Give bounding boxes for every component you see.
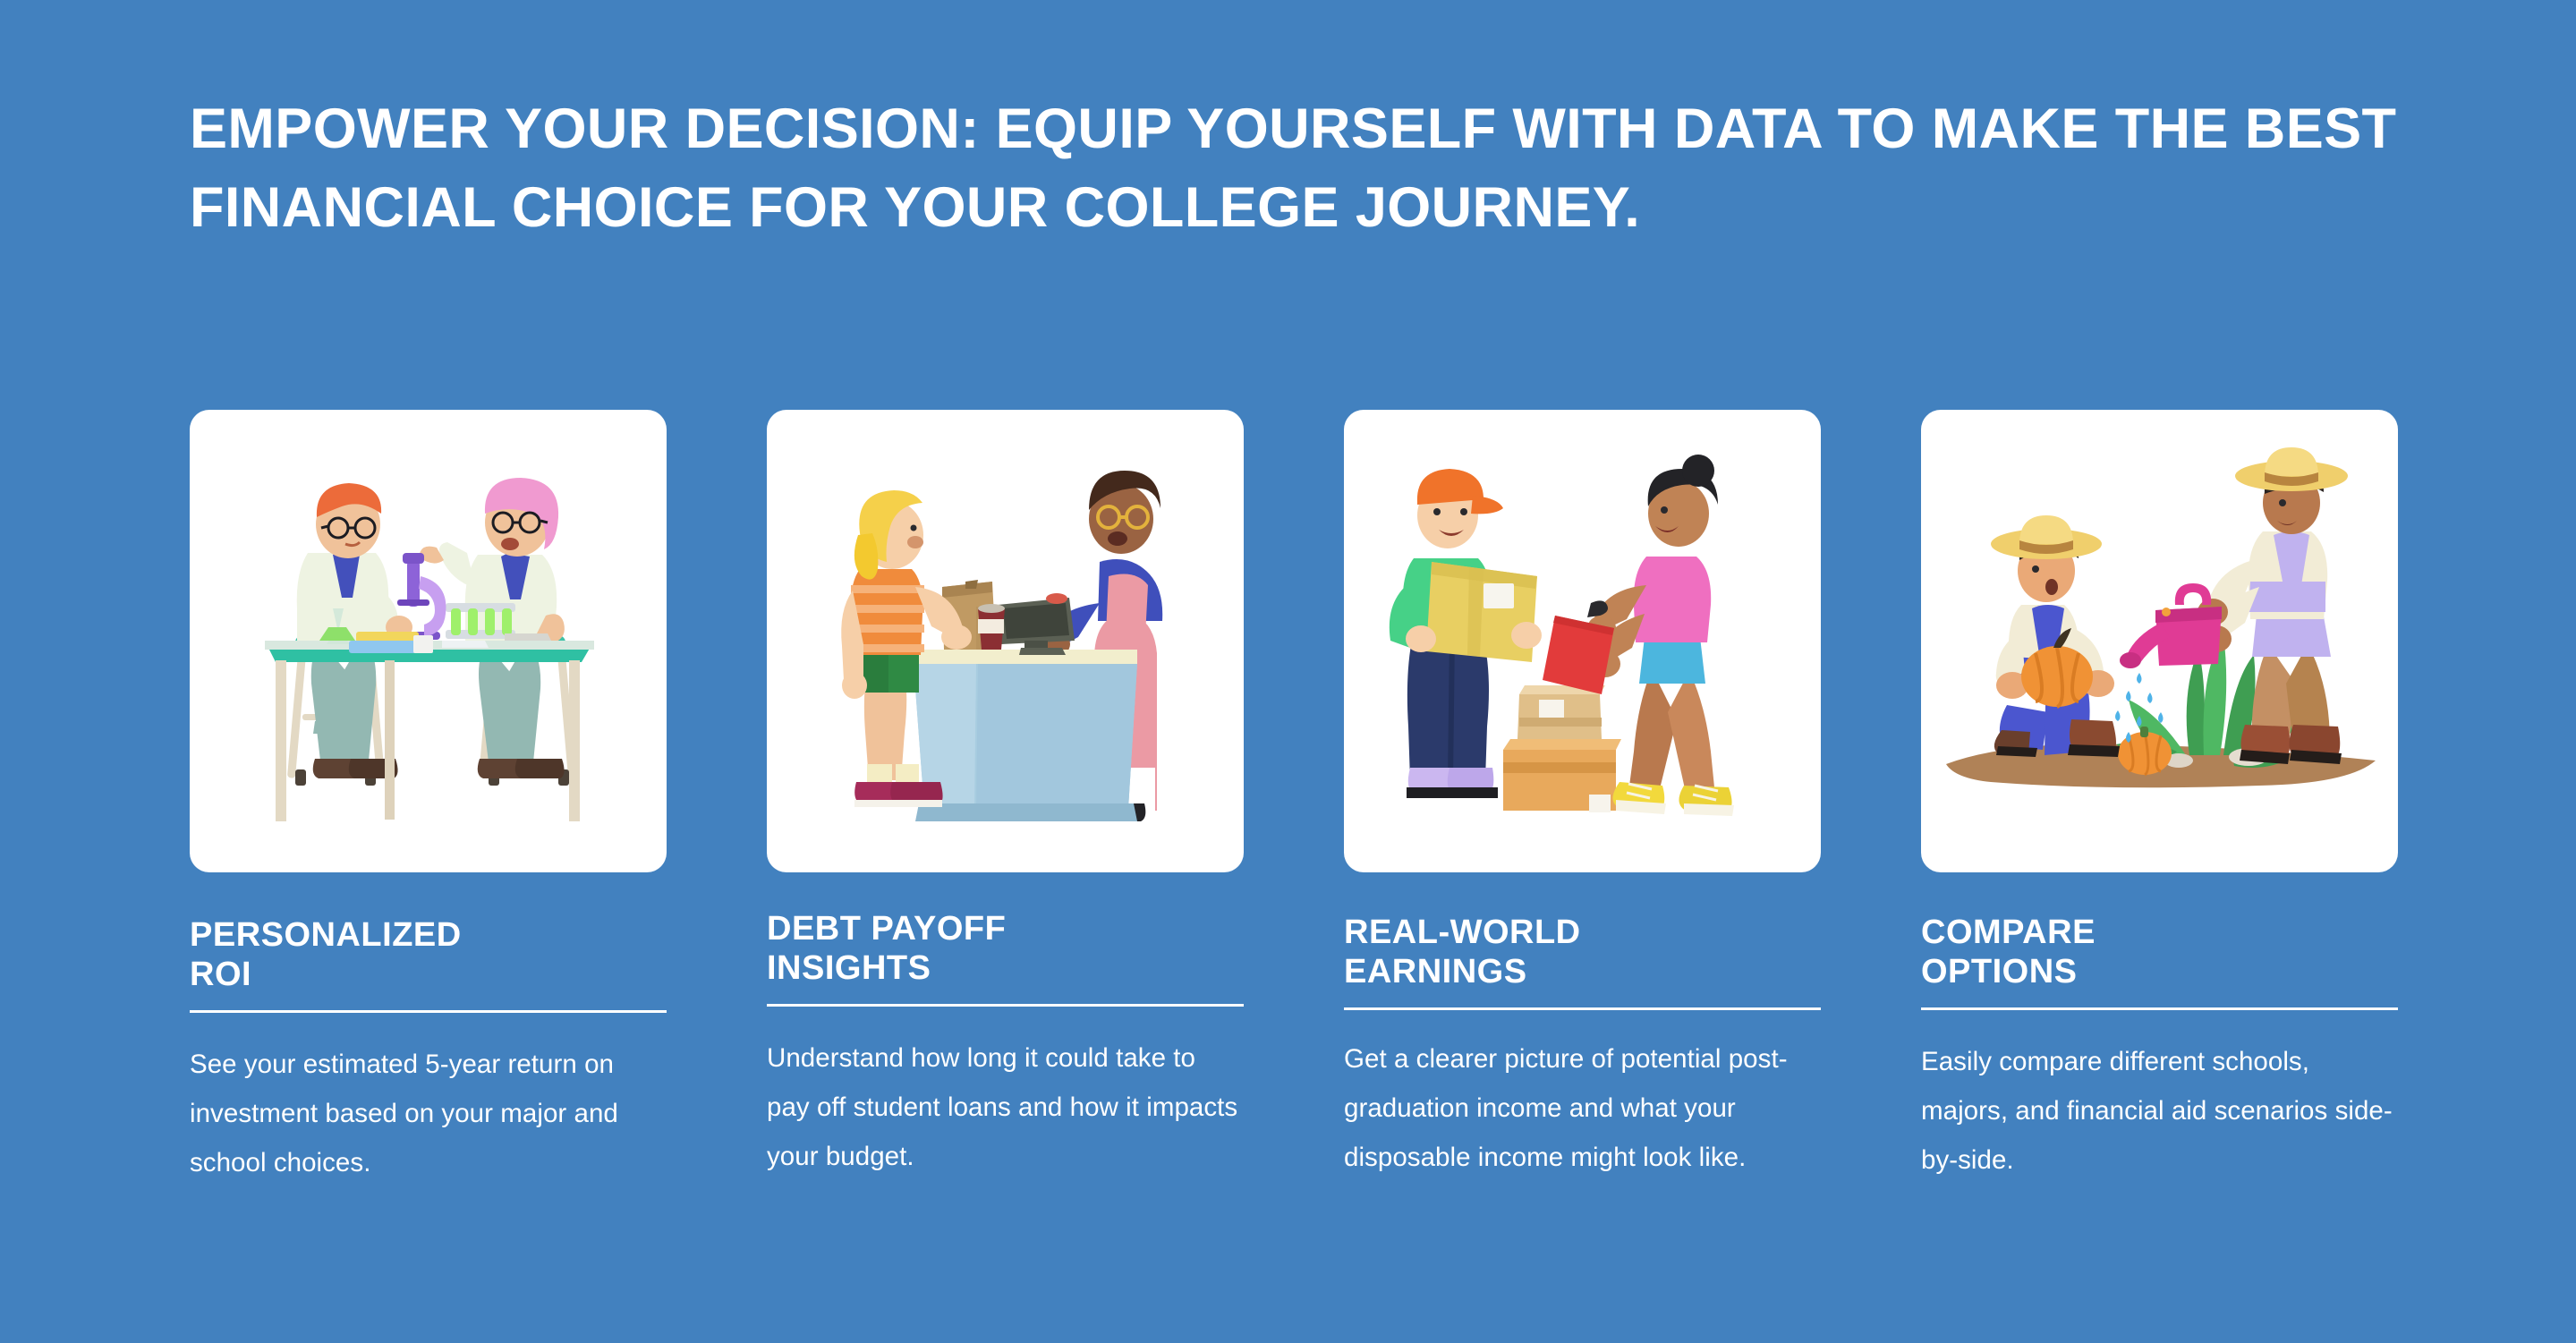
card-divider: [767, 1004, 1244, 1007]
card-image-frame: [1344, 410, 1821, 872]
card-title: REAL-WORLD EARNINGS: [1344, 872, 1821, 991]
card-body: Easily compare different schools, majors…: [1921, 1017, 2398, 1185]
two-scientists-at-lab-table-illustration: [190, 410, 667, 872]
delivery-handoff-illustration: [1344, 410, 1821, 872]
feature-card-personalized-roi[interactable]: PERSONALIZED ROI See your estimated 5-ye…: [190, 410, 667, 1187]
card-image-frame: [767, 410, 1244, 872]
checkout-counter: [914, 650, 1137, 821]
card-divider: [190, 1010, 667, 1013]
feature-card-compare-options[interactable]: COMPARE OPTIONS Easily compare different…: [1921, 410, 2398, 1187]
feature-card-debt-payoff-insights[interactable]: DEBT PAYOFF INSIGHTS Understand how long…: [767, 410, 1244, 1187]
card-divider: [1344, 1007, 1821, 1010]
card-body: See your estimated 5-year return on inve…: [190, 1020, 667, 1187]
scientist-left: [297, 483, 412, 778]
kneeling-gardener: [1991, 515, 2120, 757]
feature-card-grid: PERSONALIZED ROI See your estimated 5-ye…: [190, 410, 2376, 1187]
two-gardeners-harvesting-illustration: [1921, 410, 2398, 872]
stacked-boxes: [1503, 685, 1621, 812]
card-image-frame: [190, 410, 667, 872]
card-divider: [1921, 1007, 2398, 1010]
card-image-frame: [1921, 410, 2398, 872]
card-title: COMPARE OPTIONS: [1921, 872, 2398, 991]
card-title: DEBT PAYOFF INSIGHTS: [767, 872, 1244, 988]
watering-can-icon: [2120, 583, 2222, 668]
card-body: Understand how long it could take to pay…: [767, 1014, 1244, 1181]
customer-at-checkout-counter-illustration: [767, 410, 1244, 872]
card-title: PERSONALIZED ROI: [190, 872, 667, 994]
feature-card-real-world-earnings[interactable]: REAL-WORLD EARNINGS Get a clearer pictur…: [1344, 410, 1821, 1187]
slide-root: EMPOWER YOUR DECISION: EQUIP YOURSELF WI…: [0, 0, 2576, 1343]
page-headline: EMPOWER YOUR DECISION: EQUIP YOURSELF WI…: [190, 89, 2444, 247]
card-body: Get a clearer picture of potential post-…: [1344, 1017, 1821, 1182]
